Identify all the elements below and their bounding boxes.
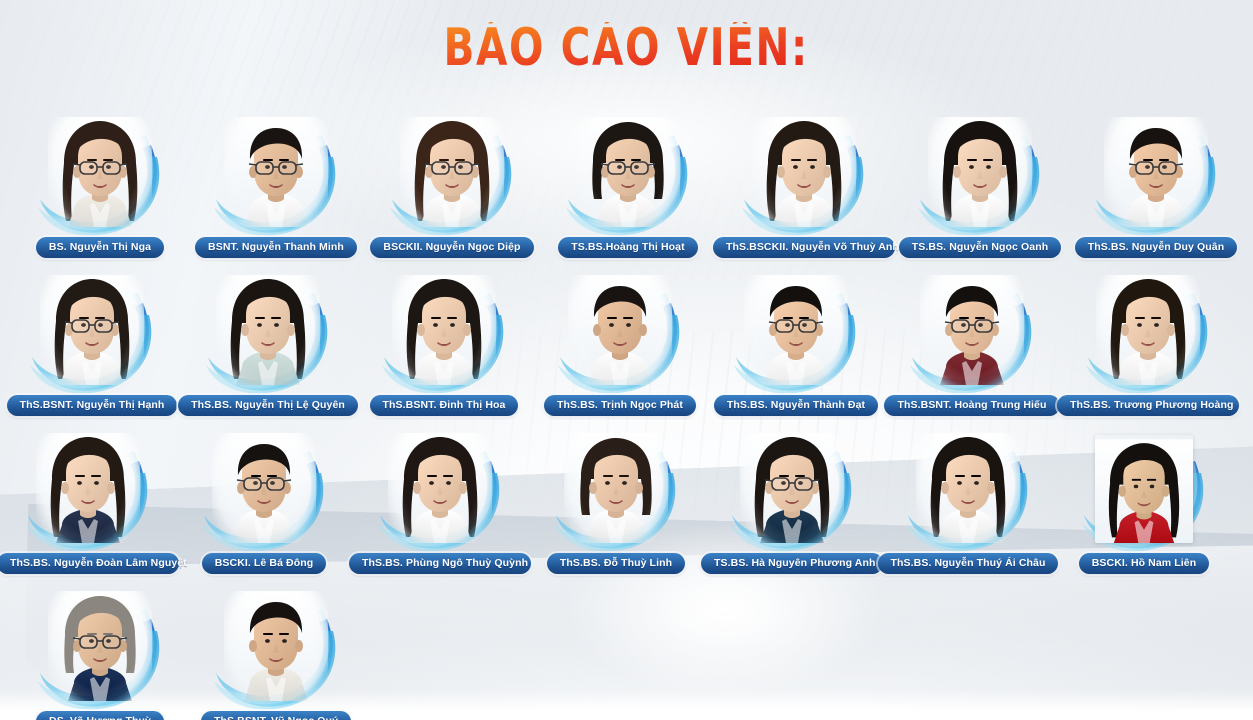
speaker-portrait bbox=[198, 433, 330, 549]
speaker-photo bbox=[48, 591, 152, 701]
speaker-card[interactable]: ThS.BS. Nguyễn Thuý Ái Châu bbox=[880, 416, 1056, 574]
portrait-illustration bbox=[48, 591, 152, 701]
speaker-photo bbox=[216, 275, 320, 385]
speaker-card[interactable]: TS.BS. Nguyễn Ngọc Oanh bbox=[892, 100, 1068, 258]
speaker-portrait bbox=[730, 275, 862, 391]
speaker-name-badge: ThS.BS. Nguyễn Duy Quân bbox=[1075, 237, 1237, 258]
speaker-portrait bbox=[34, 117, 166, 233]
speaker-portrait bbox=[906, 275, 1038, 391]
speaker-name-badge: BS. Nguyễn Thị Nga bbox=[36, 237, 164, 258]
speaker-card[interactable]: TS.BS.Hoàng Thị Hoạt bbox=[540, 100, 716, 258]
speaker-name-badge: ThS.BS. Nguyễn Thành Đạt bbox=[714, 395, 878, 416]
speaker-name-badge: ThS.BSNT. Vũ Ngọc Quý bbox=[201, 711, 351, 720]
portrait-illustration bbox=[1104, 117, 1208, 227]
speaker-photo bbox=[568, 275, 672, 385]
speaker-row: ThS.BS. Nguyễn Đoàn Lâm Nguyệt bbox=[0, 416, 1253, 574]
portrait-illustration bbox=[752, 117, 856, 227]
speaker-card[interactable]: ThS.BS. Phùng Ngô Thuỳ Quỳnh bbox=[352, 416, 528, 574]
page-title: BÁO CÁO VIÊN: bbox=[444, 22, 809, 74]
speaker-portrait bbox=[1078, 433, 1210, 549]
portrait-illustration bbox=[212, 433, 316, 543]
speaker-name-badge: BSCKI. Lê Bá Đông bbox=[202, 553, 327, 574]
portrait-illustration bbox=[568, 275, 672, 385]
speaker-card[interactable]: ThS.BSCKII. Nguyễn Võ Thuỳ Anh bbox=[716, 100, 892, 258]
speaker-photo bbox=[740, 433, 844, 543]
portrait-illustration bbox=[392, 275, 496, 385]
speaker-portrait bbox=[738, 117, 870, 233]
speaker-portrait bbox=[554, 275, 686, 391]
portrait-illustration bbox=[400, 117, 504, 227]
speaker-name-badge: ThS.BS. Nguyễn Đoàn Lâm Nguyệt bbox=[0, 553, 179, 574]
speaker-photo bbox=[744, 275, 848, 385]
speaker-name-badge: ThS.BSNT. Đinh Thị Hoa bbox=[370, 395, 519, 416]
speaker-name-badge: BSCKII. Nguyễn Ngọc Diệp bbox=[370, 237, 533, 258]
speaker-name-badge: BSCKI. Hồ Nam Liên bbox=[1079, 553, 1209, 574]
portrait-illustration bbox=[928, 117, 1032, 227]
speaker-name-badge: DS. Võ Hương Thuỳ bbox=[36, 711, 164, 720]
speaker-card[interactable]: ThS.BS. Nguyễn Đoàn Lâm Nguyệt bbox=[0, 416, 176, 574]
speaker-portrait bbox=[374, 433, 506, 549]
speaker-card[interactable]: ThS.BS. Trịnh Ngọc Phát bbox=[532, 258, 708, 416]
speaker-photo bbox=[48, 117, 152, 227]
speaker-portrait bbox=[34, 591, 166, 707]
speaker-photo bbox=[224, 117, 328, 227]
speaker-portrait bbox=[22, 433, 154, 549]
speaker-photo bbox=[212, 433, 316, 543]
speaker-name-badge: ThS.BSNT. Hoàng Trung Hiếu bbox=[884, 395, 1059, 416]
speaker-card[interactable]: BS. Nguyễn Thị Nga bbox=[12, 100, 188, 258]
speaker-portrait bbox=[26, 275, 158, 391]
speaker-name-badge: BSNT. Nguyễn Thanh Minh bbox=[195, 237, 357, 258]
speaker-card[interactable]: ThS.BS. Nguyễn Thành Đạt bbox=[708, 258, 884, 416]
speaker-photo bbox=[752, 117, 856, 227]
speaker-photo bbox=[400, 117, 504, 227]
speaker-row: ThS.BSNT. Nguyễn Thị Hạnh bbox=[0, 258, 1253, 416]
speaker-photo bbox=[40, 275, 144, 385]
speaker-board: BÁO CÁO VIÊN: bbox=[0, 0, 1253, 720]
speaker-portrait bbox=[386, 117, 518, 233]
speaker-name-badge: TS.BS.Hoàng Thị Hoạt bbox=[558, 237, 697, 258]
portrait-illustration bbox=[744, 275, 848, 385]
portrait-illustration bbox=[388, 433, 492, 543]
portrait-illustration bbox=[36, 433, 140, 543]
portrait-illustration bbox=[564, 433, 668, 543]
speaker-portrait bbox=[1082, 275, 1214, 391]
speaker-card[interactable]: ThS.BS. Nguyễn Duy Quân bbox=[1068, 100, 1244, 258]
speaker-portrait bbox=[902, 433, 1034, 549]
portrait-illustration bbox=[224, 591, 328, 701]
speaker-photo bbox=[1095, 435, 1193, 543]
speaker-photo bbox=[576, 117, 680, 227]
speaker-card[interactable]: TS.BS. Hà Nguyên Phương Anh bbox=[704, 416, 880, 574]
speaker-photo bbox=[928, 117, 1032, 227]
speaker-name-badge: ThS.BS. Trương Phương Hoàng bbox=[1057, 395, 1239, 416]
speaker-portrait bbox=[550, 433, 682, 549]
portrait-illustration bbox=[40, 275, 144, 385]
speaker-photo bbox=[224, 591, 328, 701]
portrait-illustration bbox=[1096, 275, 1200, 385]
speaker-card[interactable]: BSNT. Nguyễn Thanh Minh bbox=[188, 100, 364, 258]
speaker-portrait bbox=[202, 275, 334, 391]
speaker-photo bbox=[1096, 275, 1200, 385]
speaker-card[interactable]: ThS.BSNT. Vũ Ngọc Quý bbox=[188, 574, 364, 720]
speaker-portrait bbox=[210, 117, 342, 233]
portrait-illustration bbox=[1095, 435, 1193, 543]
speaker-card[interactable]: ThS.BSNT. Nguyễn Thị Hạnh bbox=[4, 258, 180, 416]
speaker-card[interactable]: BSCKII. Nguyễn Ngọc Diệp bbox=[364, 100, 540, 258]
speaker-portrait bbox=[378, 275, 510, 391]
speaker-name-badge: ThS.BS. Nguyễn Thị Lệ Quyên bbox=[178, 395, 358, 416]
page-title-wrap: BÁO CÁO VIÊN: bbox=[0, 22, 1253, 74]
portrait-illustration bbox=[224, 117, 328, 227]
speaker-name-badge: ThS.BS. Nguyễn Thuý Ái Châu bbox=[878, 553, 1059, 574]
speaker-photo bbox=[36, 433, 140, 543]
speaker-portrait bbox=[562, 117, 694, 233]
speaker-card[interactable]: ThS.BS. Nguyễn Thị Lệ Quyên bbox=[180, 258, 356, 416]
speaker-card[interactable]: DS. Võ Hương Thuỳ bbox=[12, 574, 188, 720]
speaker-name-badge: ThS.BSCKII. Nguyễn Võ Thuỳ Anh bbox=[713, 237, 895, 258]
speaker-card[interactable]: ThS.BS. Đỗ Thuỳ Linh bbox=[528, 416, 704, 574]
speaker-name-badge: ThS.BS. Đỗ Thuỳ Linh bbox=[547, 553, 685, 574]
speaker-photo bbox=[1104, 117, 1208, 227]
speaker-photo bbox=[916, 433, 1020, 543]
speaker-card[interactable]: ThS.BSNT. Hoàng Trung Hiếu bbox=[884, 258, 1060, 416]
speaker-portrait bbox=[726, 433, 858, 549]
speaker-portrait bbox=[210, 591, 342, 707]
speaker-photo bbox=[920, 275, 1024, 385]
speaker-photo bbox=[392, 275, 496, 385]
speaker-row: BS. Nguyễn Thị Nga bbox=[0, 100, 1253, 258]
speaker-card[interactable]: ThS.BSNT. Đinh Thị Hoa bbox=[356, 258, 532, 416]
speaker-portrait bbox=[1090, 117, 1222, 233]
speaker-name-badge: ThS.BS. Phùng Ngô Thuỳ Quỳnh bbox=[349, 553, 531, 574]
speaker-card[interactable]: ThS.BS. Trương Phương Hoàng bbox=[1060, 258, 1236, 416]
speaker-photo bbox=[564, 433, 668, 543]
speaker-name-badge: TS.BS. Hà Nguyên Phương Anh bbox=[701, 553, 883, 574]
speaker-name-badge: TS.BS. Nguyễn Ngọc Oanh bbox=[899, 237, 1061, 258]
portrait-illustration bbox=[48, 117, 152, 227]
portrait-illustration bbox=[740, 433, 844, 543]
portrait-illustration bbox=[576, 117, 680, 227]
portrait-illustration bbox=[916, 433, 1020, 543]
speaker-name-badge: ThS.BSNT. Nguyễn Thị Hạnh bbox=[7, 395, 178, 416]
speaker-photo bbox=[388, 433, 492, 543]
speaker-name-badge: ThS.BS. Trịnh Ngọc Phát bbox=[544, 395, 696, 416]
speaker-grid: BS. Nguyễn Thị Nga bbox=[0, 100, 1253, 720]
portrait-illustration bbox=[216, 275, 320, 385]
speaker-card[interactable]: BSCKI. Hồ Nam Liên bbox=[1056, 416, 1232, 574]
speaker-card[interactable]: BSCKI. Lê Bá Đông bbox=[176, 416, 352, 574]
portrait-illustration bbox=[920, 275, 1024, 385]
speaker-row: DS. Võ Hương Thuỳ bbox=[0, 574, 1253, 720]
speaker-portrait bbox=[914, 117, 1046, 233]
